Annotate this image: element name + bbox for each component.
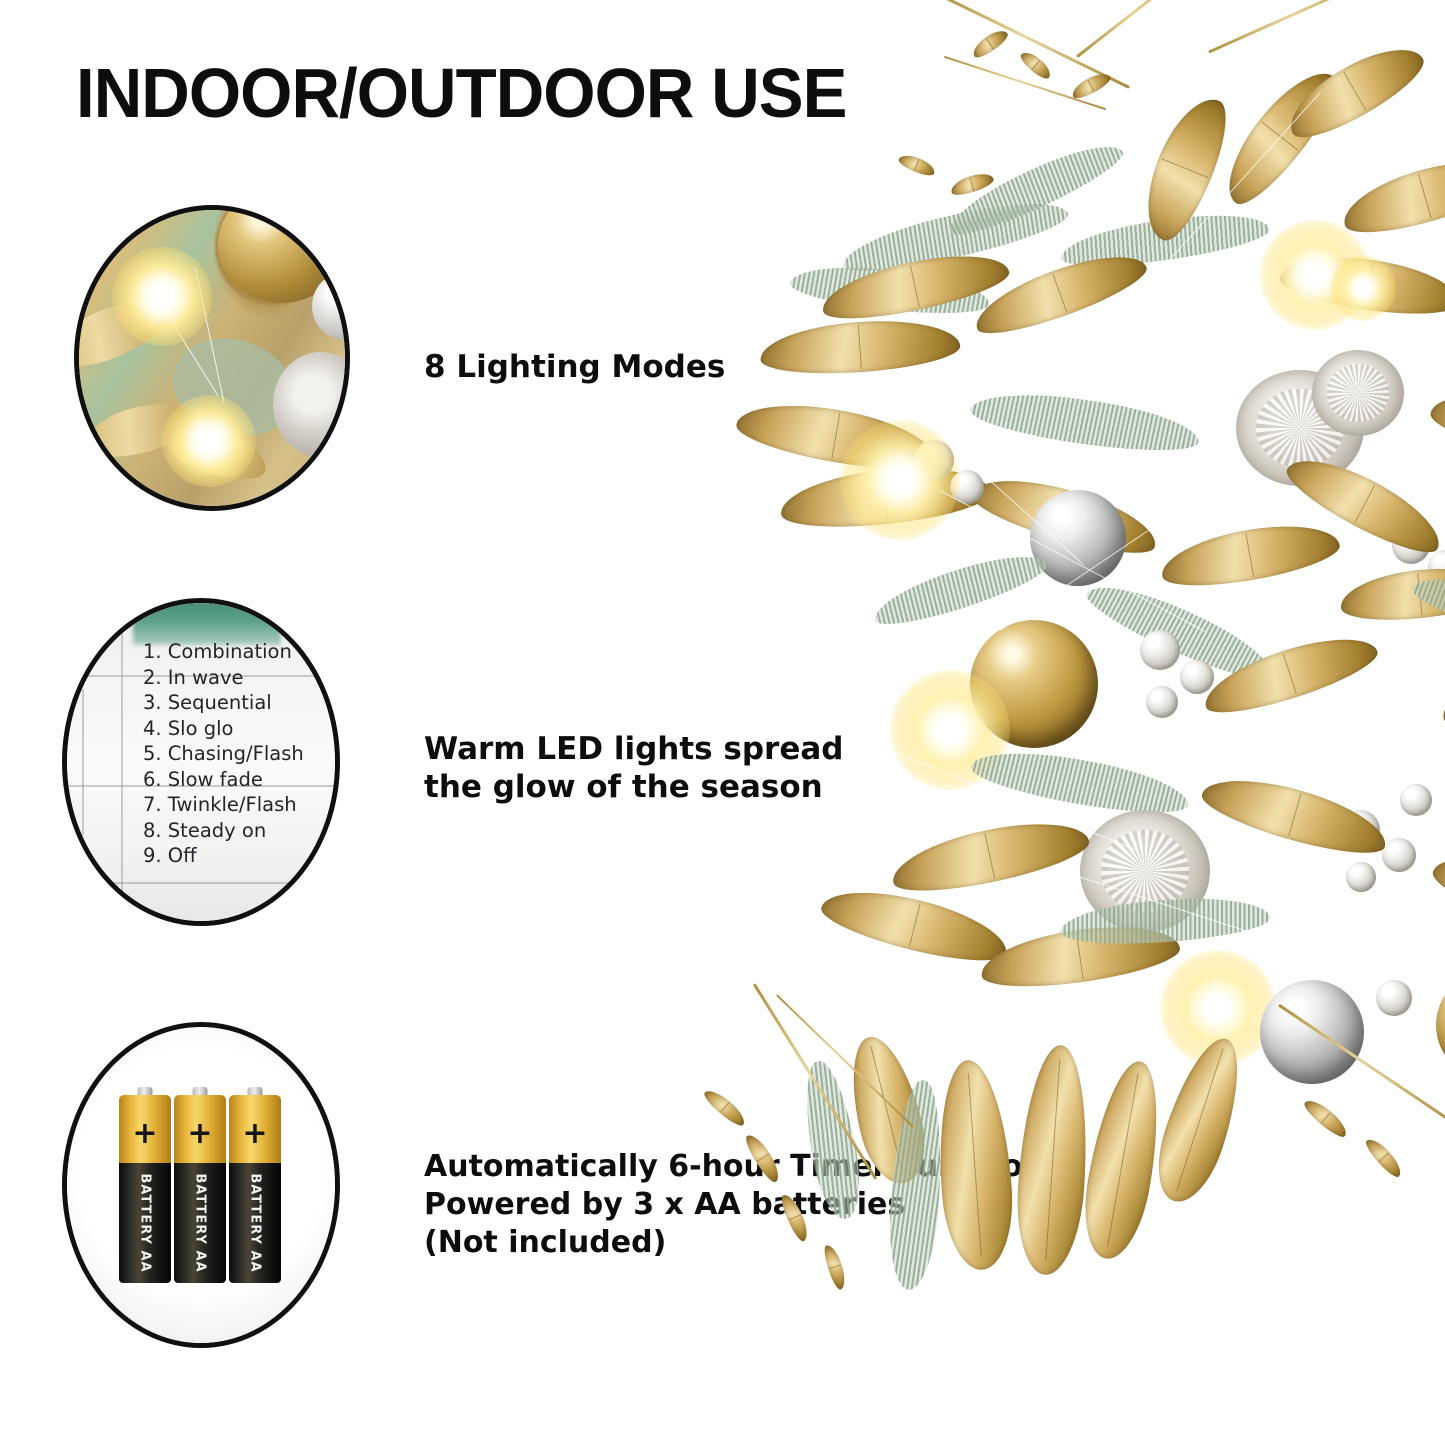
lighting-mode-item: 9. Off: [143, 843, 304, 869]
gold-leaf: [1301, 1095, 1351, 1141]
led-light: [162, 395, 257, 487]
gold-leaf: [1018, 48, 1055, 82]
aa-battery: + BATTERY AA: [174, 1087, 226, 1283]
gold-ornament-ball: [970, 620, 1098, 748]
battery-box-image: 1. Combination 2. In wave 3. Sequential …: [67, 603, 335, 921]
gold-leaf: [897, 151, 937, 178]
silver-ornament-ball: [1260, 980, 1364, 1084]
gold-leaf: [1069, 69, 1113, 102]
gold-leaf: [1362, 1135, 1405, 1181]
gold-magnolia-leaf: [1145, 1030, 1255, 1210]
white-pinecone: [1312, 350, 1404, 436]
infographic-page: INDOOR/OUTDOOR USE 8 Lighting Modes: [0, 0, 1445, 1445]
lighting-mode-item: 1. Combination: [143, 639, 304, 665]
battery-label: BATTERY AA: [138, 1173, 153, 1272]
silver-glitter-berry: [1382, 838, 1416, 872]
silver-ornament-ball: [1030, 490, 1126, 586]
gold-ornament-ball: [1436, 970, 1445, 1080]
battery-label: BATTERY AA: [248, 1173, 263, 1272]
gold-magnolia-leaf: [1336, 148, 1445, 245]
box-seam: [121, 603, 123, 921]
silver-glitter-berry: [1346, 862, 1376, 892]
frosted-pine-sprig: [968, 384, 1202, 460]
lighting-mode-item: 6. Slow fade: [143, 767, 304, 793]
plus-icon: +: [132, 1125, 157, 1143]
gold-leaf: [778, 1192, 812, 1244]
gold-magnolia-leaf: [1437, 651, 1445, 736]
battery-body: BATTERY AA: [229, 1163, 281, 1283]
led-light: [112, 247, 212, 346]
lighting-mode-item: 2. In wave: [143, 665, 304, 691]
silver-glitter-berry: [1400, 784, 1432, 816]
gold-magnolia-leaf: [968, 241, 1153, 346]
gold-magnolia-leaf: [758, 315, 961, 379]
led-closeup-scene: [79, 210, 345, 506]
battery-top: +: [229, 1095, 281, 1163]
battery-body: BATTERY AA: [119, 1163, 171, 1283]
feature-thumbnail-lighting-modes: [74, 205, 350, 511]
batteries-scene: + BATTERY AA + BATTERY AA: [67, 1027, 335, 1343]
gold-leaf: [969, 26, 1010, 61]
silver-glitter-berry: [1180, 660, 1214, 694]
product-image-wreath: [640, 0, 1445, 1445]
aa-battery: + BATTERY AA: [119, 1087, 171, 1283]
feature-thumbnail-timer-battery: + BATTERY AA + BATTERY AA: [62, 1022, 340, 1348]
lighting-mode-item: 5. Chasing/Flash: [143, 741, 304, 767]
lighting-mode-item: 7. Twinkle/Flash: [143, 792, 304, 818]
gold-leaf: [742, 1131, 784, 1185]
battery-top: +: [174, 1095, 226, 1163]
plus-icon: +: [187, 1125, 212, 1143]
battery-body: BATTERY AA: [174, 1163, 226, 1283]
gold-magnolia-leaf: [1157, 515, 1343, 595]
lighting-modes-list: 1. Combination 2. In wave 3. Sequential …: [143, 639, 304, 869]
box-seam: [82, 689, 84, 836]
gold-magnolia-leaf: [1427, 842, 1445, 947]
gold-magnolia-leaf: [1012, 1043, 1094, 1277]
gold-leaf: [701, 1086, 749, 1130]
silver-glitter-berry: [1140, 630, 1180, 670]
led-closeup-image: [79, 210, 345, 506]
lighting-mode-item: 8. Steady on: [143, 818, 304, 844]
gold-magnolia-leaf: [1427, 383, 1445, 467]
aa-batteries-image: + BATTERY AA + BATTERY AA: [67, 1027, 335, 1343]
silver-glitter-berry: [1146, 686, 1178, 718]
gold-sprig: [1208, 0, 1392, 54]
battery-box-scene: 1. Combination 2. In wave 3. Sequential …: [67, 603, 335, 921]
plus-icon: +: [242, 1125, 267, 1143]
aa-battery: + BATTERY AA: [229, 1087, 281, 1283]
gold-sprig: [1076, 0, 1204, 58]
gold-magnolia-leaf: [1075, 1056, 1171, 1264]
lighting-mode-item: 4. Slo glo: [143, 716, 304, 742]
feature-thumbnail-warm-led: 1. Combination 2. In wave 3. Sequential …: [62, 598, 340, 926]
battery-top: +: [119, 1095, 171, 1163]
box-seam: [67, 882, 335, 884]
lighting-mode-item: 3. Sequential: [143, 690, 304, 716]
gold-magnolia-leaf: [1277, 248, 1445, 323]
silver-glitter-berry: [1376, 980, 1412, 1016]
battery-group: + BATTERY AA + BATTERY AA: [119, 1087, 283, 1283]
gold-leaf: [821, 1243, 849, 1291]
gold-magnolia-leaf: [933, 1058, 1017, 1272]
gold-magnolia-leaf: [887, 810, 1093, 902]
silver-glitter-berry: [914, 440, 954, 480]
battery-label: BATTERY AA: [193, 1173, 208, 1272]
gold-magnolia-leaf: [817, 878, 1013, 972]
